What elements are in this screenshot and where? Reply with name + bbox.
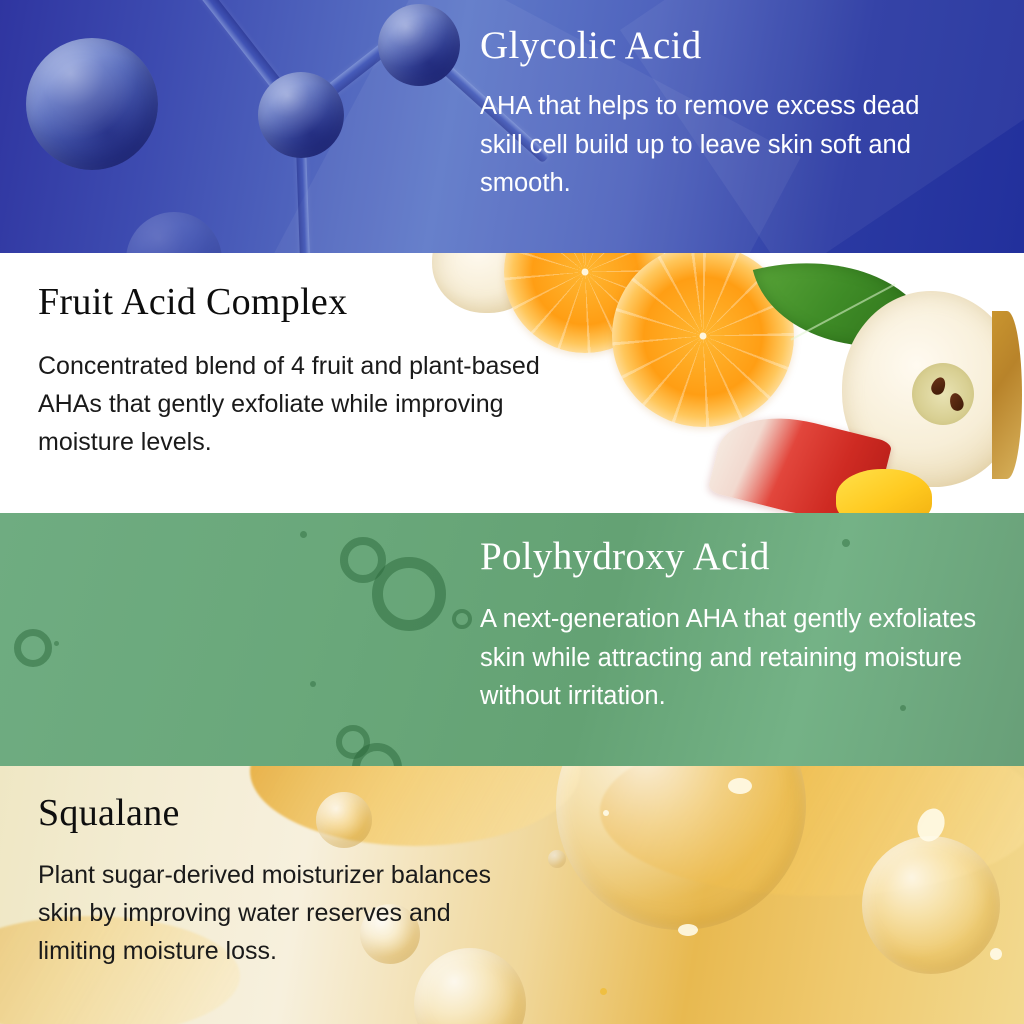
- panel-title-squalane: Squalane: [38, 794, 504, 834]
- panel-fruit-acid-complex: Fruit Acid Complex Concentrated blend of…: [0, 253, 1024, 513]
- ingredient-infographic: Glycolic Acid AHA that helps to remove e…: [0, 0, 1024, 1024]
- panel-body-squalane: Plant sugar-derived moisturizer balances…: [38, 856, 504, 970]
- panel-title-fruit: Fruit Acid Complex: [38, 283, 594, 323]
- panel-body-glycolic: AHA that helps to remove excess dead ski…: [480, 87, 968, 203]
- panel-body-fruit: Concentrated blend of 4 fruit and plant-…: [38, 347, 594, 461]
- panel-polyhydroxy-acid: Polyhydroxy Acid A next-generation AHA t…: [0, 513, 1024, 766]
- panel-title-polyhydroxy: Polyhydroxy Acid: [480, 537, 1000, 578]
- panel-squalane: Squalane Plant sugar-derived moisturizer…: [0, 766, 1024, 1024]
- panel-glycolic-acid: Glycolic Acid AHA that helps to remove e…: [0, 0, 1024, 253]
- panel-body-polyhydroxy: A next-generation AHA that gently exfoli…: [480, 600, 1000, 716]
- panel-text-glycolic: Glycolic Acid AHA that helps to remove e…: [0, 0, 1024, 253]
- panel-text-squalane: Squalane Plant sugar-derived moisturizer…: [0, 766, 1024, 1024]
- panel-title-glycolic: Glycolic Acid: [480, 26, 968, 67]
- panel-text-polyhydroxy: Polyhydroxy Acid A next-generation AHA t…: [0, 513, 1024, 766]
- panel-text-fruit: Fruit Acid Complex Concentrated blend of…: [0, 253, 1024, 513]
